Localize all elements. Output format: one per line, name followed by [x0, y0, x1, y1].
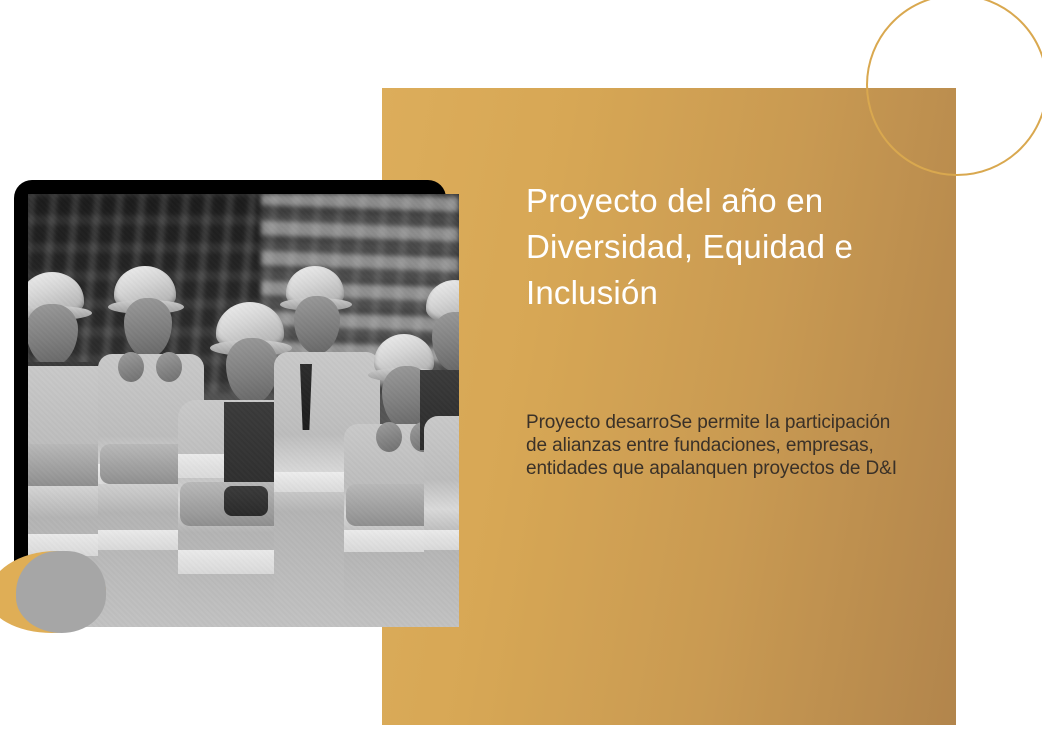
slide-body-text: Proyecto desarroSe permite la participac…: [526, 411, 904, 480]
ear-protection: [156, 352, 182, 382]
decorative-blob-gray: [16, 551, 106, 633]
vest-stripe: [424, 530, 459, 550]
ear-protection: [118, 352, 144, 382]
slide-canvas: Proyecto del año en Diversidad, Equidad …: [0, 0, 1042, 730]
slide-title: Proyecto del año en Diversidad, Equidad …: [526, 178, 896, 316]
safety-vest: [424, 416, 459, 627]
worker-gloves: [224, 486, 268, 516]
decorative-circle-icon: [866, 0, 1042, 176]
ear-protection: [376, 422, 402, 452]
